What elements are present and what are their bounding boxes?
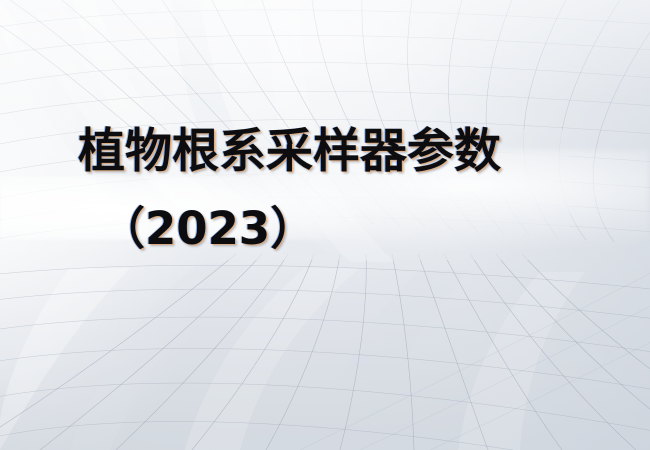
- background-mesh-pattern: [0, 0, 650, 450]
- slide-background-base: [0, 0, 650, 450]
- title-slide: 植物根系采样器参数 （2023）: [0, 0, 650, 450]
- slide-background-right-shade: [0, 0, 650, 450]
- slide-title-line-1: 植物根系采样器参数: [78, 126, 501, 178]
- slide-background-left-glow: [0, 0, 650, 450]
- slide-title-line-2: （2023）: [100, 203, 315, 255]
- background-vignette: [0, 0, 650, 450]
- slide-background-bottom-shade: [0, 0, 650, 450]
- background-light-sweep: [0, 176, 650, 240]
